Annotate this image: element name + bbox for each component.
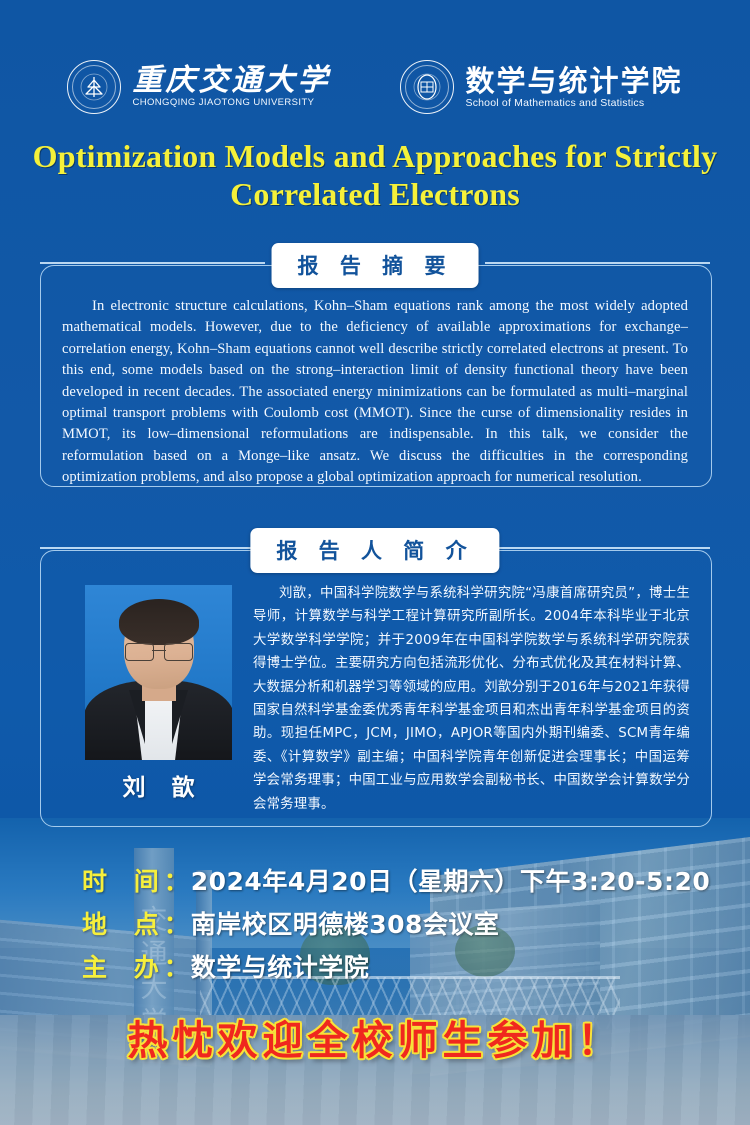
university-logo: 重庆交通大学 CHONGQING JIAOTONG UNIVERSITY bbox=[67, 60, 330, 114]
school-name-en: School of Mathematics and Statistics bbox=[465, 97, 682, 109]
abstract-body: In electronic structure calculations, Ko… bbox=[62, 296, 688, 489]
abstract-pill-rule-right bbox=[485, 262, 710, 264]
bio-pill-rule-left bbox=[40, 547, 265, 549]
detail-label-organizer: 主 办 bbox=[82, 948, 168, 984]
speaker-portrait bbox=[85, 585, 232, 760]
portrait-hair bbox=[119, 599, 199, 645]
glasses-icon bbox=[125, 643, 193, 659]
detail-row-time: 时 间 ： 2024年4月20日（星期六）下午3:20-5:20 bbox=[82, 862, 682, 898]
speaker-bio: 刘歆，中国科学院数学与系统科学研究院“冯康首席研究员”，博士生导师，计算数学与科… bbox=[253, 582, 690, 816]
detail-colon-organizer: ： bbox=[164, 948, 189, 984]
detail-value-location: 南岸校区明德楼308会议室 bbox=[191, 905, 500, 941]
detail-colon-location: ： bbox=[164, 905, 189, 941]
detail-value-time: 2024年4月20日（星期六）下午3:20-5:20 bbox=[191, 862, 711, 898]
event-details: 时 间 ： 2024年4月20日（星期六）下午3:20-5:20 地 点 ： 南… bbox=[82, 862, 682, 991]
header-logos: 重庆交通大学 CHONGQING JIAOTONG UNIVERSITY 数学与… bbox=[0, 56, 750, 118]
detail-colon-time: ： bbox=[164, 862, 189, 898]
bio-pill-rule-right bbox=[485, 547, 710, 549]
speaker-heading: 报 告 人 简 介 bbox=[250, 528, 499, 573]
school-logo: 数学与统计学院 School of Mathematics and Statis… bbox=[400, 60, 682, 114]
abstract-heading: 报 告 摘 要 bbox=[272, 243, 479, 288]
detail-value-organizer: 数学与统计学院 bbox=[191, 948, 370, 984]
speaker-name: 刘 歆 bbox=[85, 768, 232, 802]
detail-label-time: 时 间 bbox=[82, 862, 168, 898]
school-logo-text: 数学与统计学院 School of Mathematics and Statis… bbox=[465, 65, 682, 109]
detail-row-organizer: 主 办 ： 数学与统计学院 bbox=[82, 948, 682, 984]
detail-label-location: 地 点 bbox=[82, 905, 168, 941]
school-seal-icon bbox=[400, 60, 454, 114]
welcome-banner: 热忱欢迎全校师生参加！ bbox=[0, 1008, 750, 1066]
university-name-en: CHONGQING JIAOTONG UNIVERSITY bbox=[132, 97, 330, 109]
school-name-cn: 数学与统计学院 bbox=[465, 65, 682, 97]
university-name-cn: 重庆交通大学 bbox=[132, 65, 330, 97]
university-logo-text: 重庆交通大学 CHONGQING JIAOTONG UNIVERSITY bbox=[132, 65, 330, 109]
detail-row-location: 地 点 ： 南岸校区明德楼308会议室 bbox=[82, 905, 682, 941]
poster: 交通大学 重庆交通大学 CHONGQING JIAOTONG UNIVERSIT… bbox=[0, 0, 750, 1125]
university-seal-icon bbox=[67, 60, 121, 114]
poster-title: Optimization Models and Approaches for S… bbox=[30, 137, 720, 213]
abstract-pill-rule-left bbox=[40, 262, 265, 264]
